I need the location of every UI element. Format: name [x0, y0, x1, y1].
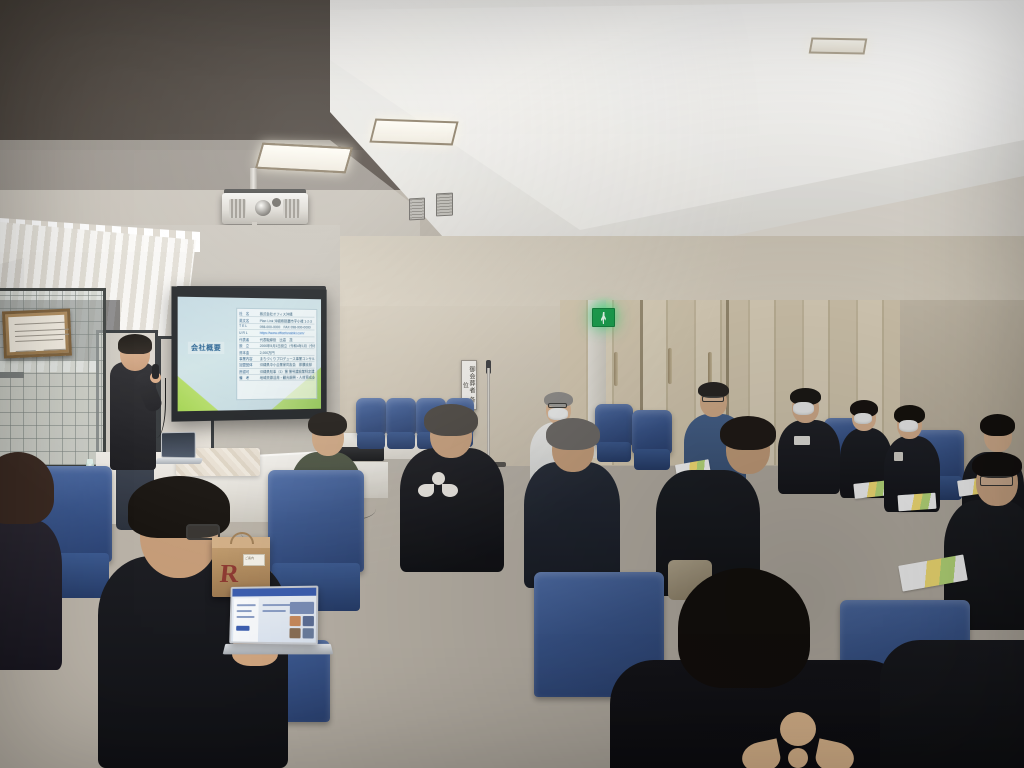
slide-title: 会社概要 — [188, 342, 224, 354]
app-title-bar — [232, 588, 316, 597]
chair-seat — [597, 442, 632, 462]
attendee-hair — [720, 416, 776, 450]
slide-row-key: 英文名 — [239, 317, 258, 322]
laptop-keyboard-base[interactable] — [223, 644, 334, 655]
slide-row-key: 備 考 — [239, 375, 258, 380]
logo-wing-left — [418, 484, 434, 497]
uniform-logo — [894, 452, 903, 461]
seminar-room-photo: 御会葬者 各位 会社概要 社 名株式会社オフィス沖縄英文名Plan Link 沖… — [0, 0, 1024, 768]
slide-row-value: Plan Link 沖縄県那覇市字小禄 1-2-3 — [260, 318, 315, 324]
face-mask-icon — [899, 420, 918, 432]
podium-laptop-base[interactable] — [155, 458, 203, 464]
slide-info-table: 社 名株式会社オフィス沖縄英文名Plan Link 沖縄県那覇市字小禄 1-2-… — [236, 308, 317, 400]
bottle-cap — [87, 459, 93, 464]
blue-chair[interactable] — [595, 404, 633, 470]
slide-row-value: https://www.officefunabiki.com/ — [260, 331, 315, 335]
slide-row-value: 地域資源活用・観光振興・人材育成支援 — [260, 375, 315, 380]
door-handle-icon[interactable] — [614, 352, 618, 386]
slide-accent-left — [178, 356, 219, 411]
face-mask-icon — [793, 402, 814, 415]
slide-row-value: 株式会社オフィス沖縄 — [260, 311, 315, 317]
projector-focus-knob — [272, 198, 281, 207]
logo-head — [780, 712, 816, 746]
framed-certificate — [2, 309, 72, 359]
chair-seat — [357, 432, 385, 449]
door-handle-icon[interactable] — [708, 352, 712, 384]
chair-back — [268, 470, 364, 572]
chair-back — [595, 404, 633, 446]
back-wall-upper — [330, 236, 1024, 306]
blue-chair[interactable] — [356, 398, 386, 456]
slide-row-key: U R L — [239, 331, 258, 335]
logo-wing-right — [442, 484, 458, 497]
laptop-screen[interactable] — [229, 586, 318, 645]
attendee-hair — [678, 568, 810, 688]
door-handle-icon[interactable] — [668, 348, 672, 384]
slide-row-value: 沖縄県知事（1）第 第号建設業特定建設業登録 — [260, 368, 315, 373]
projector-vent — [229, 199, 246, 218]
chair-back — [386, 398, 416, 435]
blue-chair[interactable] — [632, 410, 672, 478]
slide-row-value: まちづくりプロデュース事業コンサルティング事業 — [260, 356, 315, 361]
logo-body — [788, 748, 808, 768]
certificate-paper — [8, 315, 65, 352]
chair-back — [356, 398, 386, 435]
slide-row-key: 社 名 — [239, 311, 258, 316]
projection-screen: 会社概要 社 名株式会社オフィス沖縄英文名Plan Link 沖縄県那覇市字小禄… — [171, 286, 326, 421]
blue-chair[interactable] — [386, 398, 416, 456]
slide-row-value: 098-000-0000 FAX 098-000-0000 — [260, 324, 315, 329]
face-mask-icon — [854, 413, 872, 424]
projector-lens-icon — [255, 200, 271, 216]
handheld-microphone-icon[interactable] — [152, 364, 159, 379]
microphone-stand-pole[interactable] — [487, 368, 490, 468]
slide-table-row: 備 考地域資源活用・観光振興・人材育成支援 — [239, 374, 314, 381]
ceiling-light-panel-icon — [255, 143, 353, 174]
shirt-back-logo — [742, 712, 854, 768]
slide-row-value: 2,000万円 — [260, 350, 315, 355]
attendee-hair — [980, 414, 1015, 436]
glasses-icon — [702, 396, 724, 402]
paper-handout[interactable] — [897, 493, 936, 512]
ceiling-light-panel-icon — [809, 38, 868, 55]
slide-row-value: 沖縄県中小企業家同友会 那覇支部 那覇商工会議所 — [260, 362, 315, 367]
glasses-icon — [548, 403, 567, 408]
slide-surface: 会社概要 社 名株式会社オフィス沖縄英文名Plan Link 沖縄県那覇市字小禄… — [178, 297, 321, 412]
slide-row-key: 許認可 — [239, 369, 258, 374]
slide-row-key: 事業内容 — [239, 356, 258, 361]
slide-row-value: 2000年5月1日設立（令和4年1月（令和4）） — [260, 343, 315, 348]
slide-row-value: 代表取締役 比嘉 茂 — [260, 337, 315, 342]
logo-wing-right — [813, 738, 856, 768]
podium-laptop-screen[interactable] — [161, 432, 196, 459]
slide-row-key: 加盟団体 — [239, 362, 258, 367]
slide-row-key: 資本金 — [239, 350, 258, 355]
attendee-hair — [308, 412, 347, 436]
attendee-hair — [546, 418, 600, 450]
bag-label: ご案内 — [243, 554, 265, 566]
attendee-torso — [0, 520, 62, 670]
attendee-torso — [778, 420, 840, 494]
attendee-hair — [424, 404, 478, 436]
slide-row-key: T E L — [239, 324, 258, 328]
exit-sign-icon — [592, 308, 615, 327]
ceiling-speaker-icon — [436, 193, 453, 217]
logo-wing-left — [739, 738, 782, 768]
chair-back — [632, 410, 672, 454]
chair-seat — [387, 432, 415, 449]
projector-vent — [283, 199, 300, 218]
attendee-hair — [972, 452, 1022, 478]
slide-row-key: 設 立 — [239, 343, 258, 348]
glasses-icon — [980, 476, 1013, 486]
ceiling-speaker-icon — [409, 198, 425, 221]
bag-logo-letter: R — [219, 561, 241, 587]
jacket-logo — [418, 472, 458, 498]
running-person-pictogram — [601, 312, 606, 324]
chair-seat — [634, 449, 671, 469]
attendee-torso — [880, 640, 1024, 768]
name-badge — [794, 436, 810, 445]
attendee-torso — [524, 462, 620, 588]
attendee-torso — [400, 448, 504, 572]
presenter-hair — [118, 334, 152, 354]
ceiling-light-panel-icon — [369, 119, 458, 146]
slide-row-key: 代表者 — [239, 337, 258, 342]
